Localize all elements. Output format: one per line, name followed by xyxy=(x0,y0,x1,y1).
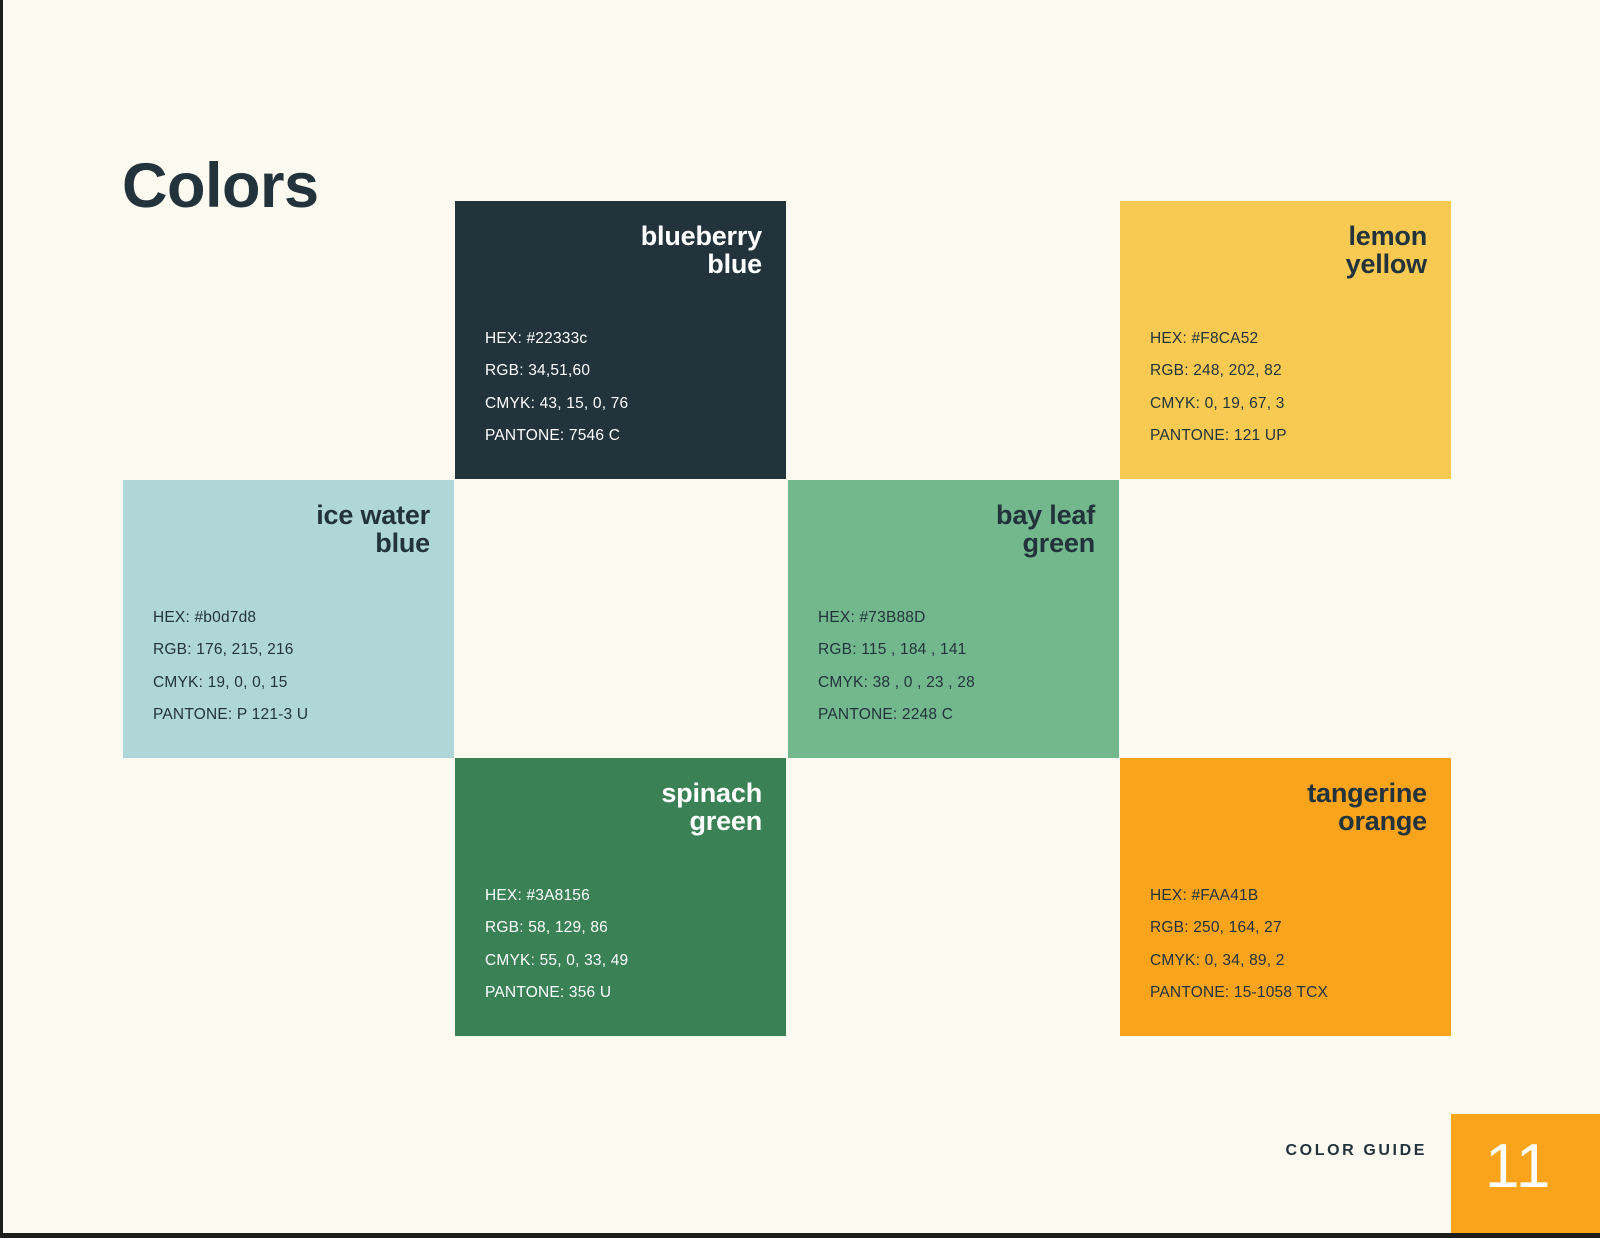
swatch-name-line1: spinach xyxy=(661,778,762,808)
swatch-specs: HEX: #FAA41B RGB: 250, 164, 27 CMYK: 0, … xyxy=(1150,888,1427,1001)
swatch-name: blueberry blue xyxy=(485,223,762,279)
spec-rgb: RGB: 248, 202, 82 xyxy=(1150,363,1427,379)
swatch-name-line2: blue xyxy=(375,528,430,558)
swatch-name-line2: green xyxy=(1022,528,1095,558)
spec-pantone: PANTONE: 7546 C xyxy=(485,428,762,444)
spec-cmyk: CMYK: 0, 34, 89, 2 xyxy=(1150,953,1427,969)
page-title: Colors xyxy=(122,155,319,218)
page-edge-left xyxy=(0,0,3,1238)
swatch-name-line2: green xyxy=(689,806,762,836)
swatch-name-line2: blue xyxy=(707,249,762,279)
swatch-card-spinach-green: spinach green HEX: #3A8156 RGB: 58, 129,… xyxy=(455,758,786,1036)
swatch-name: ice water blue xyxy=(153,502,430,558)
spec-pantone: PANTONE: P 121-3 U xyxy=(153,707,430,723)
swatch-name: spinach green xyxy=(485,780,762,836)
page-number-badge: 11 xyxy=(1451,1114,1600,1238)
spec-hex: HEX: #b0d7d8 xyxy=(153,610,430,626)
swatch-name-line2: orange xyxy=(1338,806,1427,836)
spec-rgb: RGB: 250, 164, 27 xyxy=(1150,920,1427,936)
spec-rgb: RGB: 34,51,60 xyxy=(485,363,762,379)
spec-cmyk: CMYK: 19, 0, 0, 15 xyxy=(153,675,430,691)
spec-rgb: RGB: 176, 215, 216 xyxy=(153,642,430,658)
swatch-card-lemon-yellow: lemon yellow HEX: #F8CA52 RGB: 248, 202,… xyxy=(1120,201,1451,479)
swatch-card-blueberry-blue: blueberry blue HEX: #22333c RGB: 34,51,6… xyxy=(455,201,786,479)
swatch-name-line1: bay leaf xyxy=(996,500,1095,530)
swatch-card-ice-water-blue: ice water blue HEX: #b0d7d8 RGB: 176, 21… xyxy=(123,480,454,758)
swatch-name: bay leaf green xyxy=(818,502,1095,558)
page-number: 11 xyxy=(1485,1136,1551,1198)
swatch-specs: HEX: #3A8156 RGB: 58, 129, 86 CMYK: 55, … xyxy=(485,888,762,1001)
spec-rgb: RGB: 58, 129, 86 xyxy=(485,920,762,936)
spec-hex: HEX: #22333c xyxy=(485,331,762,347)
swatch-specs: HEX: #73B88D RGB: 115 , 184 , 141 CMYK: … xyxy=(818,610,1095,723)
spec-hex: HEX: #FAA41B xyxy=(1150,888,1427,904)
spec-cmyk: CMYK: 55, 0, 33, 49 xyxy=(485,953,762,969)
spec-hex: HEX: #73B88D xyxy=(818,610,1095,626)
swatch-name-line2: yellow xyxy=(1346,249,1427,279)
spec-rgb: RGB: 115 , 184 , 141 xyxy=(818,642,1095,658)
spec-cmyk: CMYK: 38 , 0 , 23 , 28 xyxy=(818,675,1095,691)
spec-hex: HEX: #3A8156 xyxy=(485,888,762,904)
swatch-name-line1: lemon xyxy=(1348,221,1427,251)
swatch-name-line1: blueberry xyxy=(641,221,762,251)
swatch-specs: HEX: #F8CA52 RGB: 248, 202, 82 CMYK: 0, … xyxy=(1150,331,1427,444)
swatch-specs: HEX: #b0d7d8 RGB: 176, 215, 216 CMYK: 19… xyxy=(153,610,430,723)
spec-cmyk: CMYK: 43, 15, 0, 76 xyxy=(485,396,762,412)
spec-hex: HEX: #F8CA52 xyxy=(1150,331,1427,347)
footer-section-label: COLOR GUIDE xyxy=(1286,1142,1428,1160)
spec-pantone: PANTONE: 15-1058 TCX xyxy=(1150,985,1427,1001)
spec-pantone: PANTONE: 2248 C xyxy=(818,707,1095,723)
swatch-card-bay-leaf-green: bay leaf green HEX: #73B88D RGB: 115 , 1… xyxy=(788,480,1119,758)
spec-pantone: PANTONE: 121 UP xyxy=(1150,428,1427,444)
swatch-name-line1: tangerine xyxy=(1307,778,1427,808)
swatch-name-line1: ice water xyxy=(316,500,430,530)
spec-cmyk: CMYK: 0, 19, 67, 3 xyxy=(1150,396,1427,412)
spec-pantone: PANTONE: 356 U xyxy=(485,985,762,1001)
swatch-card-tangerine-orange: tangerine orange HEX: #FAA41B RGB: 250, … xyxy=(1120,758,1451,1036)
page-edge-bottom xyxy=(0,1233,1600,1238)
swatch-name: tangerine orange xyxy=(1150,780,1427,836)
swatch-specs: HEX: #22333c RGB: 34,51,60 CMYK: 43, 15,… xyxy=(485,331,762,444)
swatch-name: lemon yellow xyxy=(1150,223,1427,279)
